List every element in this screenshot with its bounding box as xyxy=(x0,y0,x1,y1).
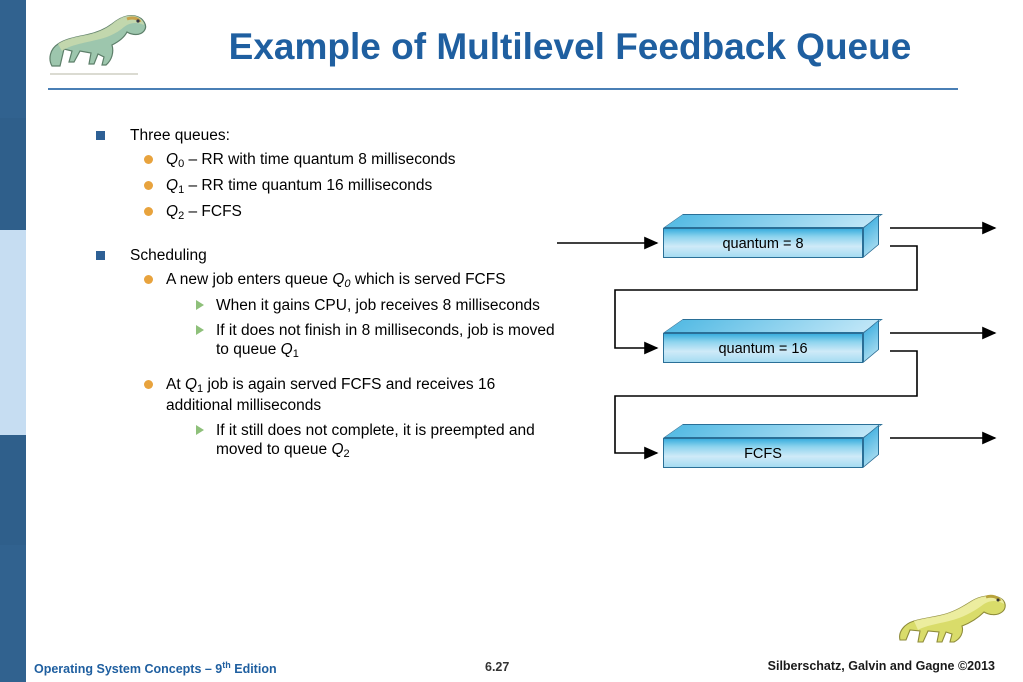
q1-symbol: Q xyxy=(185,376,197,393)
bullet-gains-cpu: When it gains CPU, job receives 8 millis… xyxy=(88,296,558,315)
bullet-text: At xyxy=(166,376,185,393)
bullet-text-tail: which is served FCFS xyxy=(351,271,506,288)
spacer xyxy=(88,367,558,375)
dot-bullet-icon xyxy=(144,181,153,190)
page-title: Example of Multilevel Feedback Queue xyxy=(160,26,980,68)
footer-left-superscript: th xyxy=(222,660,231,670)
square-bullet-icon xyxy=(96,251,105,260)
bullet-text: – RR with time quantum 8 milliseconds xyxy=(189,151,456,168)
q2-symbol: Q xyxy=(331,441,343,458)
bullet-not-finish: If it does not finish in 8 milliseconds,… xyxy=(88,321,558,361)
box-top-face xyxy=(663,214,883,228)
multilevel-feedback-queue-diagram: quantum = 8 quantum = 16 FCFS xyxy=(545,200,1015,490)
bullet-text: A new job enters queue xyxy=(166,271,332,288)
triangle-bullet-icon xyxy=(196,300,204,310)
q1-symbol: Q xyxy=(281,341,293,358)
bullet-text: When it gains CPU, job receives 8 millis… xyxy=(216,297,540,314)
q0-subscript: 0 xyxy=(344,278,350,290)
box-top-face xyxy=(663,319,883,333)
dot-bullet-icon xyxy=(144,380,153,389)
bullet-q0: Q0 – RR with time quantum 8 milliseconds xyxy=(88,150,558,171)
bullet-text: – RR time quantum 16 milliseconds xyxy=(189,177,433,194)
rail-segment-2 xyxy=(0,118,26,230)
q0-subscript: 0 xyxy=(178,158,184,170)
spacer xyxy=(88,228,558,246)
rail-segment-4 xyxy=(0,435,26,545)
title-divider xyxy=(48,88,958,90)
footer-left-main: Operating System Concepts – 9 xyxy=(34,662,222,676)
bullet-text-tail: job is again served FCFS and receives 16… xyxy=(166,376,495,414)
bullet-list: Three queues: Q0 – RR with time quantum … xyxy=(88,126,558,467)
footer-left-tail: Edition xyxy=(231,662,277,676)
dot-bullet-icon xyxy=(144,207,153,216)
bullet-text: Three queues: xyxy=(130,127,230,144)
footer-copyright: Silberschatz, Galvin and Gagne ©2013 xyxy=(768,659,995,673)
bullet-at-q1: At Q1 job is again served FCFS and recei… xyxy=(88,375,558,416)
triangle-bullet-icon xyxy=(196,325,204,335)
queue-label: quantum = 16 xyxy=(663,333,863,363)
bullet-text: – FCFS xyxy=(189,203,242,220)
left-color-rail xyxy=(0,0,26,682)
rail-segment-5 xyxy=(0,545,26,682)
bullet-text: Scheduling xyxy=(130,247,207,264)
q2-symbol: Q xyxy=(166,203,178,220)
dot-bullet-icon xyxy=(144,275,153,284)
q1-subscript: 1 xyxy=(293,348,299,360)
dinosaur-logo-icon xyxy=(34,4,154,80)
q1-symbol: Q xyxy=(166,177,178,194)
q2-subscript: 2 xyxy=(178,210,184,222)
slide-number: 6.27 xyxy=(485,660,509,674)
bullet-q1: Q1 – RR time quantum 16 milliseconds xyxy=(88,176,558,197)
footer-left: Operating System Concepts – 9th Edition xyxy=(34,660,277,676)
bullet-three-queues: Three queues: xyxy=(88,126,558,146)
dot-bullet-icon xyxy=(144,155,153,164)
q2-subscript: 2 xyxy=(344,448,350,460)
slide-canvas: Example of Multilevel Feedback Queue Thr… xyxy=(0,0,1023,682)
q1-subscript: 1 xyxy=(197,383,203,395)
square-bullet-icon xyxy=(96,131,105,140)
bullet-preempted: If it still does not complete, it is pre… xyxy=(88,421,558,461)
queue-label: FCFS xyxy=(663,438,863,468)
rail-segment-3 xyxy=(0,230,26,435)
bullet-text: If it still does not complete, it is pre… xyxy=(216,422,535,458)
queue-label: quantum = 8 xyxy=(663,228,863,258)
q0-symbol: Q xyxy=(332,271,344,288)
rail-segment-1 xyxy=(0,0,26,118)
bullet-scheduling: Scheduling xyxy=(88,246,558,266)
box-top-face xyxy=(663,424,883,438)
dinosaur-footer-icon xyxy=(890,588,1010,650)
bullet-q2: Q2 – FCFS xyxy=(88,202,558,223)
q1-subscript: 1 xyxy=(178,184,184,196)
bullet-new-job: A new job enters queue Q0 which is serve… xyxy=(88,270,558,291)
triangle-bullet-icon xyxy=(196,425,204,435)
q0-symbol: Q xyxy=(166,151,178,168)
bullet-text: If it does not finish in 8 milliseconds,… xyxy=(216,322,555,358)
